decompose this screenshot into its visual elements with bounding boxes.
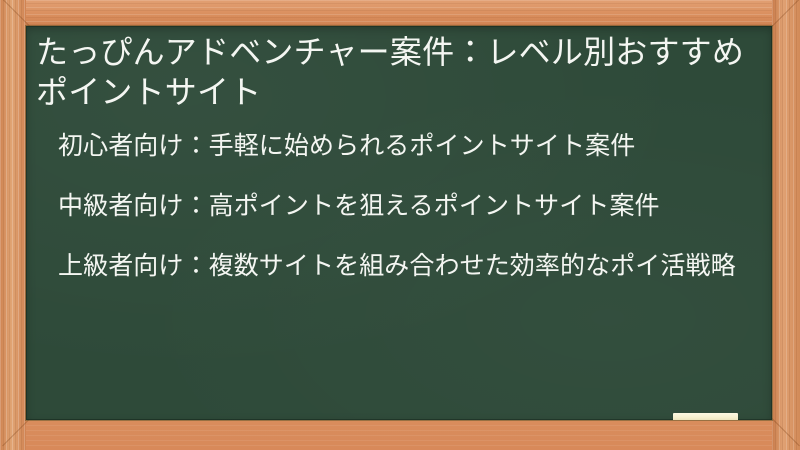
frame-right-stile [772,0,800,450]
list-item: 上級者向け：複数サイトを組み合わせた効率的なポイ活戦略 [58,250,750,282]
frame-bottom-rail [0,420,800,450]
topic-list: 初心者向け：手軽に始められるポイントサイト案件 中級者向け：高ポイントを狙えるポ… [36,130,750,282]
frame-top-rail [0,0,800,26]
page-title: たっぴんアドベンチャー案件：レベル別おすすめポイントサイト [36,32,750,112]
list-item: 初心者向け：手軽に始められるポイントサイト案件 [58,130,750,162]
chalkboard-slide: たっぴんアドベンチャー案件：レベル別おすすめポイントサイト 初心者向け：手軽に始… [0,0,800,450]
chalk-stick-icon [673,413,738,420]
chalkboard-content: たっぴんアドベンチャー案件：レベル別おすすめポイントサイト 初心者向け：手軽に始… [26,26,772,282]
list-item: 中級者向け：高ポイントを狙えるポイントサイト案件 [58,190,750,222]
chalkboard-surface: たっぴんアドベンチャー案件：レベル別おすすめポイントサイト 初心者向け：手軽に始… [26,26,772,420]
frame-left-stile [0,0,26,450]
